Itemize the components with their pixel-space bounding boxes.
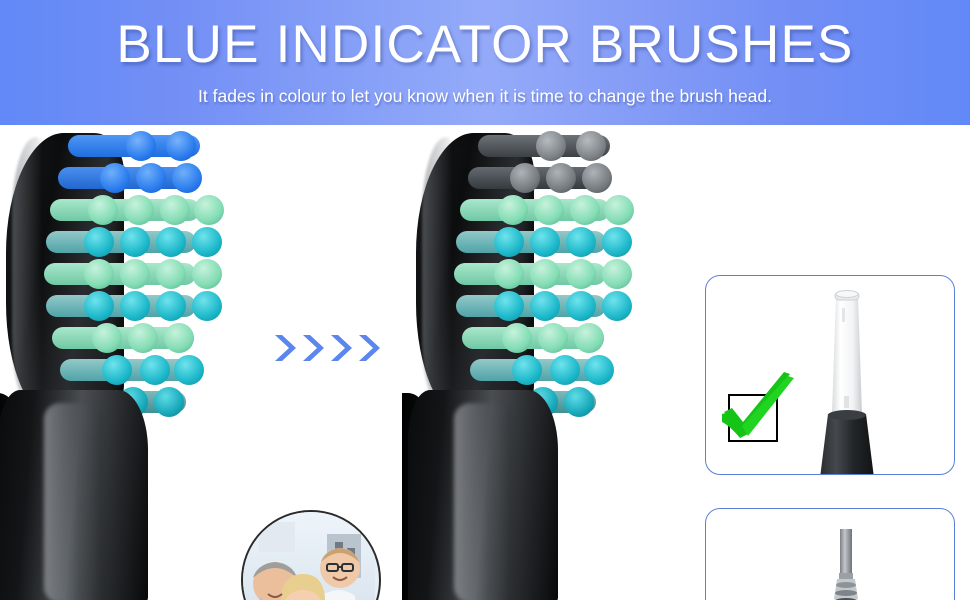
- page-title: BLUE INDICATOR BRUSHES: [0, 14, 970, 76]
- chevron-right-icon: [328, 333, 354, 363]
- header-banner: BLUE INDICATOR BRUSHES It fades in colou…: [0, 0, 970, 125]
- dentists-photo: [241, 510, 381, 600]
- brush-neck-highlight: [44, 403, 102, 600]
- white-brush-handle-illustration: [802, 288, 892, 475]
- checkmark-box: [728, 394, 778, 442]
- content-area: Dentists recommed replacinga brush head …: [0, 125, 970, 600]
- gold-handle-metal-shaft-illustration: [792, 523, 902, 600]
- dentists-photo-illustration: [243, 512, 375, 600]
- brush-head-edge-highlight: [422, 137, 452, 413]
- page-subtitle: It fades in colour to let you know when …: [0, 84, 970, 108]
- chevron-right-icon: [272, 333, 298, 363]
- incorrect-usage-panel: [705, 508, 955, 600]
- brush-head-edge-highlight: [12, 137, 42, 413]
- chevron-right-icon: [300, 333, 326, 363]
- new-brush-head: [0, 125, 242, 600]
- brush-neck-highlight: [454, 403, 512, 600]
- chevron-right-icon: [356, 333, 382, 363]
- worn-brush-head: [402, 125, 652, 600]
- infographic-page: BLUE INDICATOR BRUSHES It fades in colou…: [0, 0, 970, 600]
- progress-chevrons: [272, 328, 382, 368]
- correct-usage-panel: [705, 275, 955, 475]
